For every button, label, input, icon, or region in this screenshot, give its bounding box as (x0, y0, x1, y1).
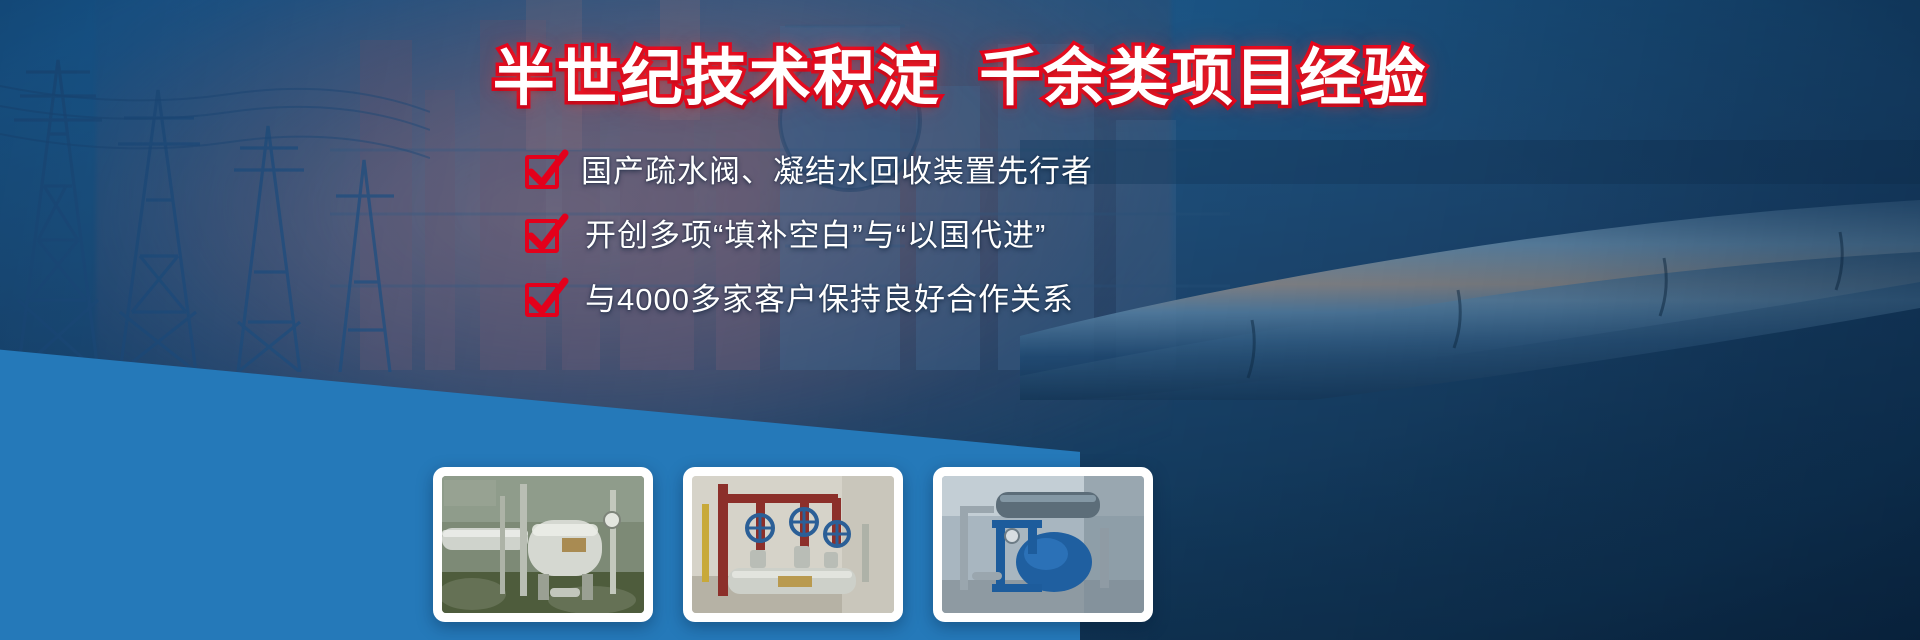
photo-steam-trap-manifold[interactable] (683, 467, 903, 622)
list-item: 开创多项“填补空白”与“以国代进” (525, 214, 1093, 258)
checkbox-checked-icon (525, 155, 559, 189)
photo-blue-pressure-vessel[interactable] (933, 467, 1153, 622)
checkbox-checked-icon (525, 219, 559, 253)
list-item: 与4000多家客户保持良好合作关系 (525, 278, 1093, 322)
list-item: 国产疏水阀、凝结水回收装置先行者 (525, 150, 1093, 194)
photo-condensate-recovery-vessel[interactable] (433, 467, 653, 622)
checkbox-checked-icon (525, 283, 559, 317)
photo-gallery (433, 467, 1153, 622)
feature-list: 国产疏水阀、凝结水回收装置先行者 开创多项“填补空白”与“以国代进” 与4000… (525, 150, 1093, 322)
list-item-label: 与4000多家客户保持良好合作关系 (585, 283, 1074, 317)
page-title: 半世纪技术积淀 千余类项目经验 (0, 40, 1920, 118)
list-item-label: 开创多项“填补空白”与“以国代进” (585, 219, 1046, 253)
promo-banner: 半世纪技术积淀 千余类项目经验 国产疏水阀、凝结水回收装置先行者 开创多项“填补… (0, 0, 1920, 640)
list-item-label: 国产疏水阀、凝结水回收装置先行者 (581, 155, 1093, 189)
